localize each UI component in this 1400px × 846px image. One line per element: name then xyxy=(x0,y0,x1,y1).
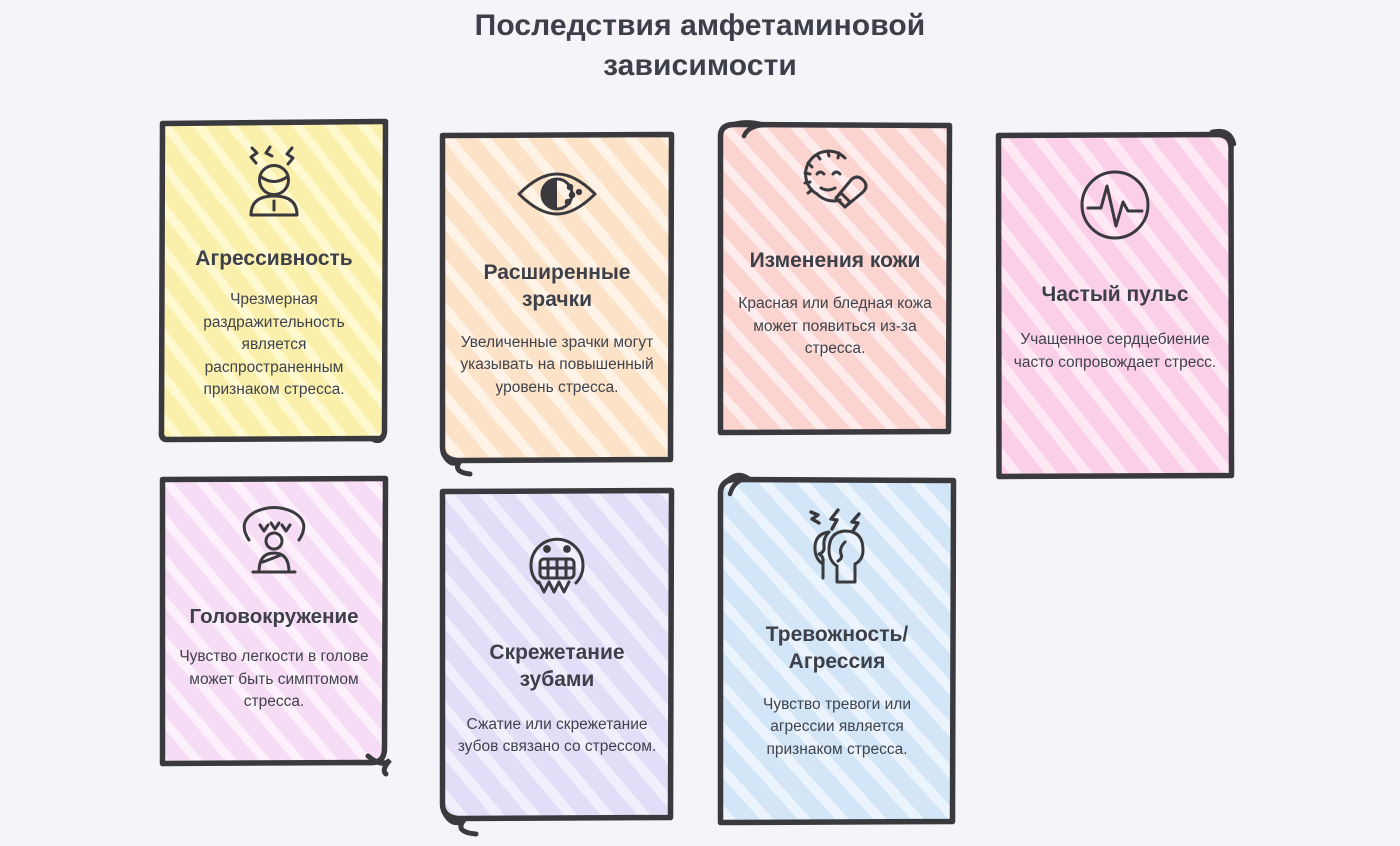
two-heads-lightning-icon xyxy=(793,506,881,588)
face-brush-icon xyxy=(795,146,875,222)
page-title: Последствия амфетаминовой зависимости xyxy=(400,6,1000,85)
card-skin-changes[interactable]: Изменения кожи Красная или бледная кожа … xyxy=(718,124,952,438)
card-rapid-pulse[interactable]: Частый пульс Учащенное сердцебиение част… xyxy=(996,134,1234,484)
card-dilated-pupils[interactable]: Расширенные зрачки Увеличенные зрачки мо… xyxy=(440,134,674,468)
infographic-canvas: Последствия амфетаминовой зависимости xyxy=(0,0,1400,846)
card-description: Учащенное сердцебиение часто сопровождае… xyxy=(1012,329,1218,374)
card-title: Тревожность/ Агрессия xyxy=(734,622,940,676)
card-anxiety[interactable]: Тревожность/ Агрессия Чувство тревоги ил… xyxy=(718,478,956,830)
card-description: Чувство тревоги или агрессии является пр… xyxy=(734,694,940,762)
card-title: Расширенные зрачки xyxy=(456,260,658,314)
card-title: Скрежетание зубами xyxy=(456,640,658,694)
angry-head-icon xyxy=(237,142,311,220)
card-title: Изменения кожи xyxy=(750,248,921,275)
card-title: Агрессивность xyxy=(195,246,352,273)
card-title: Головокружение xyxy=(190,604,359,630)
grinding-teeth-face-icon xyxy=(517,522,597,602)
card-aggression[interactable]: Агрессивность Чрезмерная раздражительнос… xyxy=(160,122,388,440)
pulse-circle-icon xyxy=(1074,164,1156,246)
card-title: Частый пульс xyxy=(1041,282,1188,309)
dilated-eye-icon xyxy=(514,168,600,220)
dizzy-person-icon xyxy=(233,500,315,578)
card-description: Увеличенные зрачки могут указывать на по… xyxy=(456,332,658,400)
card-description: Чувство легкости в голове может быть сим… xyxy=(176,646,372,714)
card-description: Чрезмерная раздражительность является ра… xyxy=(176,289,372,402)
card-description: Сжатие или скрежетание зубов связано со … xyxy=(456,714,658,759)
card-dizziness[interactable]: Головокружение Чувство легкости в голове… xyxy=(160,478,388,768)
card-teeth-grinding[interactable]: Скрежетание зубами Сжатие или скрежетани… xyxy=(440,490,674,826)
card-description: Красная или бледная кожа может появиться… xyxy=(734,293,936,361)
